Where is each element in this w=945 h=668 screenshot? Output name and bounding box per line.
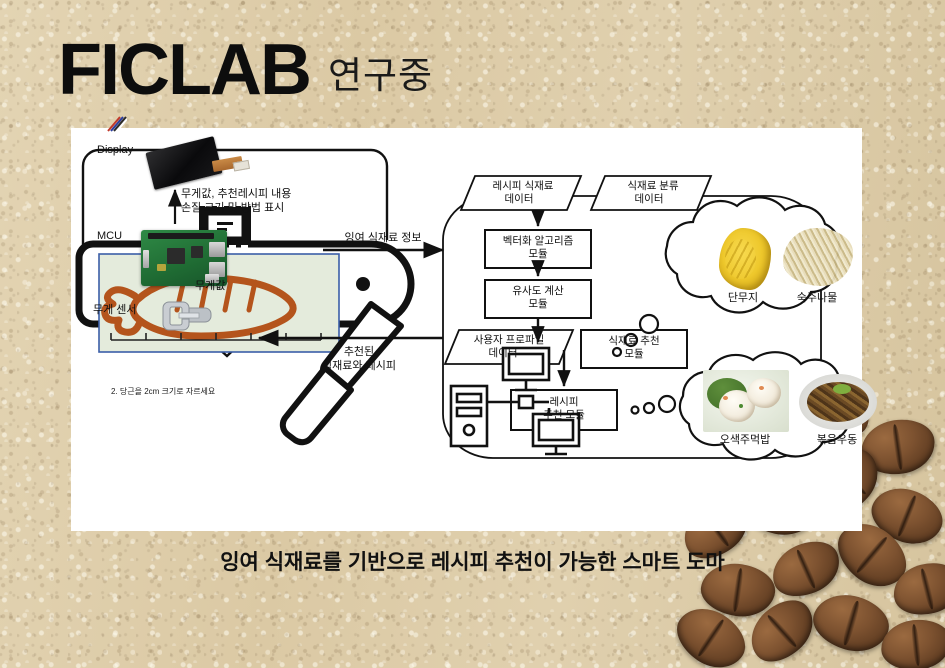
process-node-4-line1: 레시피 bbox=[550, 396, 579, 408]
data-node-1-line2: 데이터 bbox=[505, 193, 534, 205]
data-node-2-line1: 식재료 분류 bbox=[627, 180, 678, 192]
process-node-2-line2: 모듈 bbox=[528, 298, 547, 310]
slide-caption: 잉여 식재료를 기반으로 레시피 추천이 가능한 스마트 도마 bbox=[0, 546, 945, 576]
data-node-2-line2: 데이터 bbox=[635, 193, 664, 205]
process-node-4-line2: 추천 모듈 bbox=[543, 409, 585, 421]
food-label-riceballs: 오색주먹밥 bbox=[720, 434, 771, 447]
title-block: FICLAB 연구중 bbox=[58, 36, 433, 104]
pickled-radish-photo bbox=[719, 228, 771, 290]
mcu-board-photo bbox=[141, 230, 227, 286]
stir-fried-udon-photo bbox=[799, 374, 877, 430]
label-display: Display bbox=[97, 144, 133, 157]
process-node-2-line1: 유사도 계산 bbox=[512, 285, 563, 297]
data-node-3-line2: 데이터 bbox=[489, 347, 518, 359]
load-cell-sensor-photo bbox=[159, 298, 215, 332]
process-node-3-line1: 식재료 추천 bbox=[608, 335, 659, 347]
data-node-3-line1: 사용자 프로파일 bbox=[474, 334, 545, 346]
status-badge: 연구중 bbox=[328, 45, 433, 99]
arrow-label-display-line2: 손질 크기 및 방법 표시 bbox=[181, 202, 284, 215]
diagram-panel: Display MCU 무게 센서 무게값, 추천레시피 내용 손질 크기 및 … bbox=[71, 128, 862, 531]
food-label-radish: 단무지 bbox=[728, 292, 758, 305]
sensor-wires bbox=[107, 116, 127, 132]
flow-label-from-server-line1: 추천된 bbox=[344, 346, 374, 359]
rice-balls-photo bbox=[703, 370, 789, 432]
bean-sprouts-photo bbox=[783, 228, 853, 286]
slide-root: FICLAB 연구중 bbox=[0, 0, 945, 668]
process-node-3-line2: 모듈 bbox=[624, 348, 643, 360]
food-label-udon: 볶음우동 bbox=[817, 434, 857, 447]
label-mcu: MCU bbox=[97, 230, 122, 243]
food-label-sprouts: 숙주나물 bbox=[797, 292, 837, 305]
label-weight-sensor: 무게 센서 bbox=[93, 304, 137, 317]
arrow-label-weight: 무게값 bbox=[195, 280, 225, 293]
process-node-1-line2: 모듈 bbox=[528, 248, 547, 260]
flow-label-to-server: 잉여 식재료 정보 bbox=[345, 232, 422, 245]
data-node-1-line1: 레시피 식재료 bbox=[493, 180, 554, 192]
flow-label-from-server-line2: 식재료와 레시피 bbox=[322, 360, 396, 373]
brand-title: FICLAB bbox=[58, 36, 310, 104]
arrow-label-display-line1: 무게값, 추천레시피 내용 bbox=[181, 188, 291, 201]
board-screen-text: 2. 당근을 2cm 크기로 자르세요 bbox=[111, 386, 215, 397]
process-node-1-line1: 벡터화 알고리즘 bbox=[503, 235, 574, 247]
